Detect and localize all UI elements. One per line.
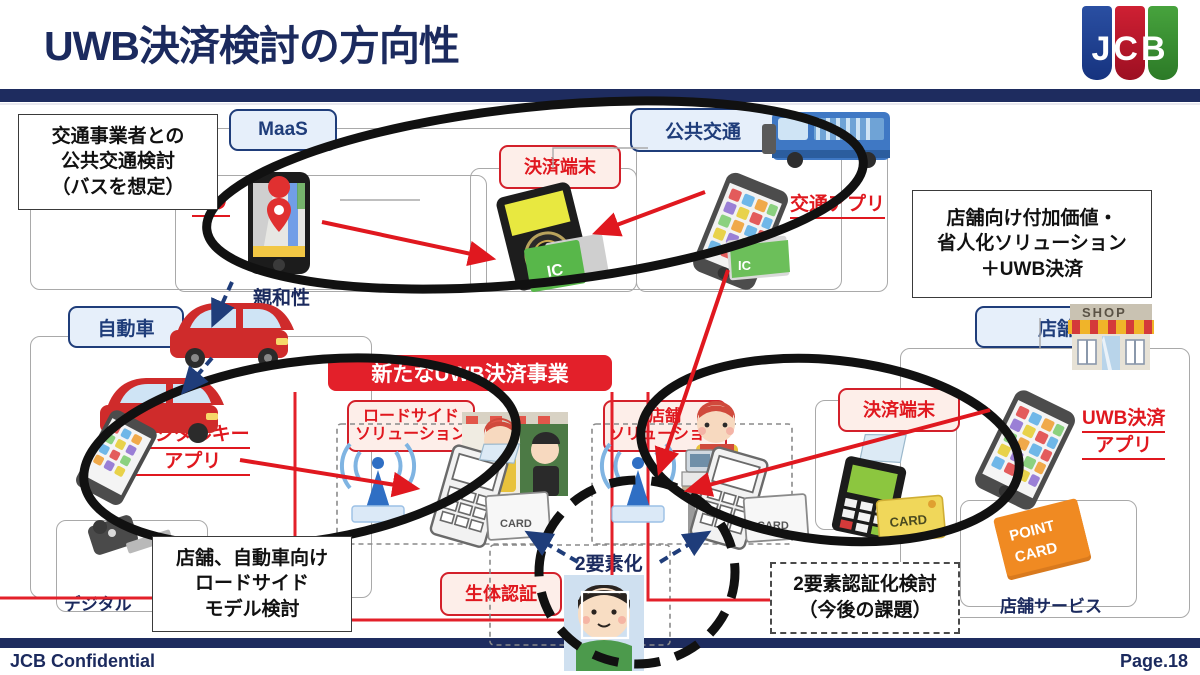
callout-roadside-model-line1: 店舗、自動車向け — [176, 546, 328, 572]
caption-two-factorization: 2要素化 — [575, 549, 643, 576]
caption-digital-key: デジタル — [64, 590, 132, 615]
red-pill-biometric-label: 生体認証 — [465, 584, 537, 604]
red-label-uwb-pay-app-line2: アプリ — [1082, 435, 1165, 460]
red-label-uwb-pay-app-line1: UWB決済 — [1082, 408, 1165, 433]
category-pill-public-transport[interactable]: 公共交通 — [630, 108, 776, 152]
red-pill-payment-terminal-top-label: 決済端末 — [524, 157, 596, 177]
face-recognition-photo-icon — [564, 575, 644, 671]
callout-transport-study-line2: 公共交通検討 — [51, 149, 184, 175]
svg-text:CARD: CARD — [500, 518, 532, 530]
red-label-digital-key-app-line1: デジタルキー — [136, 424, 250, 449]
caption-affinity: 親和性 — [253, 283, 310, 310]
red-pill-store-solution-line2: ソリューション — [609, 426, 721, 444]
arrow-two-factor-right — [660, 534, 706, 562]
red-pill-payment-terminal-right[interactable]: 決済端末 — [838, 388, 960, 432]
callout-transport-study-line1: 交通事業者との — [51, 124, 184, 150]
footer-page-number: Page.18 — [1120, 651, 1188, 672]
red-label-digital-key-app-line2: アプリ — [136, 451, 250, 476]
callout-roadside-model-line2: ロードサイド — [176, 571, 328, 597]
red-pill-roadside-solution-line1: ロードサイド — [363, 408, 459, 426]
red-pill-roadside-solution-line2: ソリューション — [355, 426, 467, 444]
uwb-beacon-right-icon — [602, 444, 674, 522]
red-label-uwb-pay-app: UWB決済 アプリ — [1082, 408, 1165, 460]
category-pill-automobile-label: 自動車 — [97, 314, 154, 341]
red-label-transit-app: 交通アプリ — [790, 194, 885, 219]
header-rule — [0, 89, 1200, 102]
callout-store-value-line2: 省人化ソリューション — [937, 231, 1127, 257]
footer-rule — [0, 638, 1200, 648]
red-pill-store-solution[interactable]: 店舗 ソリューション — [603, 400, 727, 452]
jcb-logo-text: JCB — [1082, 6, 1178, 80]
category-pill-automobile[interactable]: 自動車 — [68, 306, 184, 348]
category-pill-store[interactable]: 店舗 — [975, 306, 1139, 348]
banner-new-uwb-business: 新たなUWB決済事業 — [328, 355, 612, 391]
callout-store-value-line3: ＋UWB決済 — [937, 257, 1127, 283]
panel-store-service — [960, 500, 1137, 607]
callout-two-factor-study-line2: （今後の課題） — [793, 598, 937, 624]
red-label-transit-app-line1: 交通アプリ — [790, 194, 885, 219]
arrow-two-factor-left — [530, 534, 578, 562]
mobile-terminal-card-center-icon — [690, 446, 769, 550]
banner-new-uwb-business-label: 新たなUWB決済事業 — [371, 358, 568, 388]
red-pill-roadside-solution[interactable]: ロードサイド ソリューション — [347, 400, 475, 452]
callout-roadside-model: 店舗、自動車向け ロードサイド モデル検討 — [152, 536, 352, 632]
category-pill-maas-label: MaaS — [258, 119, 308, 141]
red-label-digital-key-app: デジタルキー アプリ — [136, 424, 250, 476]
roadside-card: CARD — [486, 492, 551, 540]
callout-transport-study-line3: （バスを想定） — [51, 175, 184, 201]
category-pill-store-label: 店舗 — [1038, 314, 1076, 341]
callout-store-value-line1: 店舗向け付加価値・ — [937, 206, 1127, 232]
category-pill-public-transport-label: 公共交通 — [665, 117, 741, 144]
caption-store-service: 店舗サービス — [1000, 592, 1102, 617]
callout-store-value: 店舗向け付加価値・ 省人化ソリューション ＋UWB決済 — [912, 190, 1152, 298]
footer-confidential: JCB Confidential — [10, 651, 155, 672]
svg-text:CARD: CARD — [757, 520, 789, 532]
drive-thru-staff-icon — [462, 412, 568, 496]
jcb-logo: JCB — [1082, 6, 1178, 80]
store-card: CARD — [744, 494, 809, 542]
header-rule-thin — [0, 103, 1200, 105]
red-pill-biometric[interactable]: 生体認証 — [440, 572, 562, 616]
slide-root: UWB決済検討の方向性 JCB — [0, 0, 1200, 675]
red-pill-payment-terminal-top[interactable]: 決済端末 — [499, 145, 621, 189]
callout-two-factor-study-line1: 2要素認証化検討 — [793, 572, 937, 598]
callout-transport-study: 交通事業者との 公共交通検討 （バスを想定） — [18, 114, 218, 210]
page-title: UWB決済検討の方向性 — [44, 12, 459, 72]
red-pill-payment-terminal-right-label: 決済端末 — [863, 400, 935, 420]
category-pill-maas[interactable]: MaaS — [229, 109, 337, 151]
red-pill-store-solution-line1: 店舗 — [649, 408, 681, 426]
callout-two-factor-study: 2要素認証化検討 （今後の課題） — [770, 562, 960, 634]
callout-roadside-model-line3: モデル検討 — [176, 597, 328, 623]
